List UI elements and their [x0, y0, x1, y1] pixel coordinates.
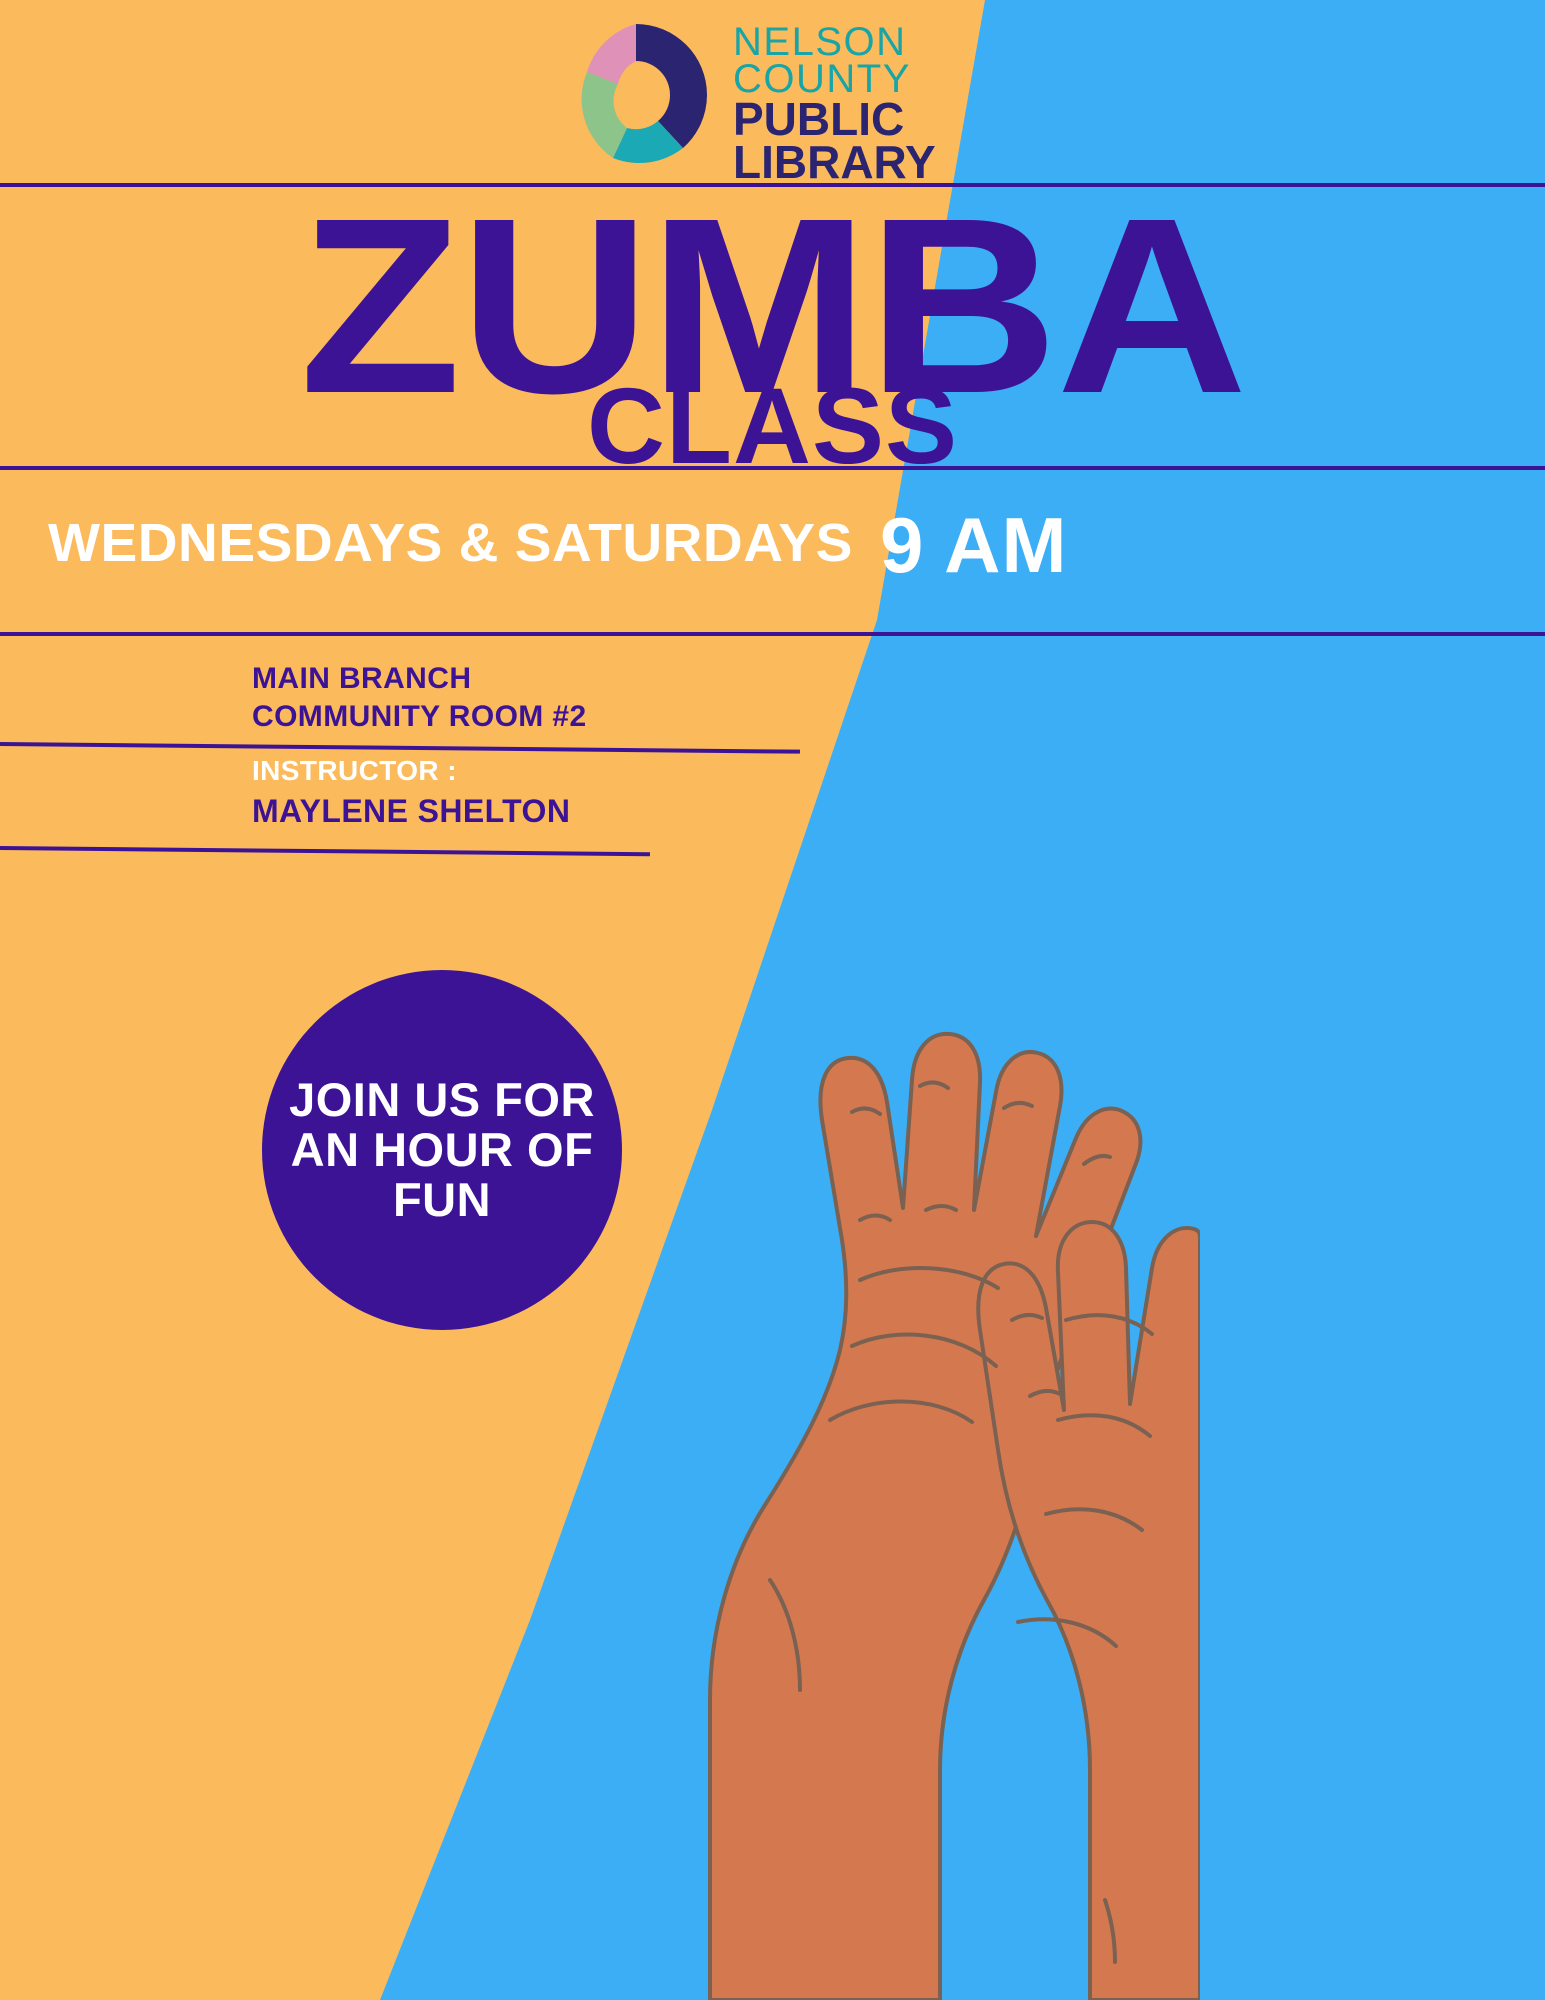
zumba-class-poster: NELSON COUNTY PUBLIC LIBRARY — [0, 0, 1545, 2000]
location-line-room: COMMUNITY ROOM #2 — [252, 698, 587, 736]
location-block: MAIN BRANCH COMMUNITY ROOM #2 — [252, 660, 587, 737]
divider-rule-under-schedule — [0, 632, 1545, 636]
clapping-hands-illustration — [560, 520, 1200, 2000]
circular-arc-logo-icon — [575, 20, 721, 170]
instructor-name: MAYLENE SHELTON — [252, 793, 570, 830]
location-line-branch: MAIN BRANCH — [252, 660, 587, 698]
schedule-time: 9 AM — [880, 500, 1067, 591]
schedule-days: WEDNESDAYS & SATURDAYS — [48, 512, 853, 574]
logo-line-public: PUBLIC — [733, 98, 936, 142]
logo-line-nelson: NELSON — [733, 24, 936, 61]
join-us-badge: JOIN US FOR AN HOUR OF FUN — [262, 970, 622, 1330]
page-subtitle: CLASS — [0, 372, 1545, 480]
library-logo: NELSON COUNTY PUBLIC LIBRARY — [575, 18, 965, 178]
logo-wordmark: NELSON COUNTY PUBLIC LIBRARY — [733, 24, 936, 185]
instructor-label: INSTRUCTOR : — [252, 755, 457, 787]
join-us-badge-text: JOIN US FOR AN HOUR OF FUN — [289, 1075, 595, 1226]
